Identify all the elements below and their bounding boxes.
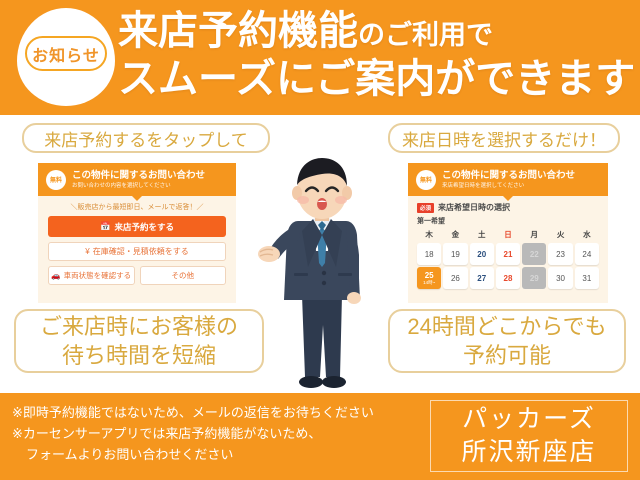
calendar-day-cell[interactable]: 21 [496, 243, 520, 265]
calendar-day-number: 24 [582, 250, 591, 259]
yen-icon: ¥ [85, 247, 89, 256]
calendar-weekday: 火 [548, 229, 572, 240]
calendar-day-cell[interactable]: 28 [496, 267, 520, 289]
headline-main-text: 来店予約機能 [118, 9, 358, 53]
other-button[interactable]: その他 [140, 266, 227, 285]
calendar-day-cell[interactable]: 20 [470, 243, 494, 265]
store-name-box: パッカーズ 所沢新座店 [430, 400, 628, 472]
calendar-icon: 📅 [100, 221, 111, 232]
car-icon: 🚗 [51, 271, 60, 280]
calendar-weekday: 木 [417, 229, 441, 240]
required-badge: 必須 [417, 203, 434, 213]
callout-step-2: 来店日時を選択するだけ！ [388, 123, 620, 153]
calendar-day-cell: 22 [522, 243, 546, 265]
stock-quote-button-label: 在庫確認・見積依頼をする [93, 246, 189, 257]
stock-quote-button[interactable]: ¥ 在庫確認・見積依頼をする [48, 242, 226, 261]
calendar-day-number: 18 [425, 250, 434, 259]
calendar-weekday: 金 [443, 229, 467, 240]
benefit-box-wait-time: ご来店時にお客様の 待ち時間を短縮 [14, 309, 264, 373]
callout-step-1: 来店予約するをタップして [22, 123, 270, 153]
mockup-header-subtitle-left: お問い合わせの内容を選択してください [72, 182, 205, 190]
footer-band: ※即時予約機能ではないため、メールの返信をお待ちください ※カーセンサーアプリで… [0, 393, 640, 480]
calendar-day-time: 14時~ [423, 280, 435, 286]
headline-tail-text: のご利用で [358, 20, 493, 50]
mockup-header-title-left: この物件に関するお問い合わせ [72, 170, 205, 182]
benefit-box-24h: 24時間どこからでも 予約可能 [388, 309, 626, 373]
benefit-24h-line-2: 予約可能 [463, 341, 551, 370]
calendar-day-cell[interactable]: 18 [417, 243, 441, 265]
vehicle-condition-button-label: 車両状態を確認する [64, 270, 132, 281]
calendar-day-cell: 29 [522, 267, 546, 289]
preference-label: 第一希望 [417, 216, 599, 226]
disclaimer-text: ※即時予約機能ではないため、メールの返信をお待ちください ※カーセンサーアプリで… [12, 402, 432, 465]
calendar-body: 必須 来店希望日時の選択 第一希望 木金土日月火水 18192021222324… [408, 196, 608, 289]
calendar-day-number: 20 [477, 250, 486, 259]
calendar-day-number: 19 [451, 250, 460, 259]
promo-banner: お知らせ 来店予約機能のご利用で スムーズにご案内ができます 来店予約するをタッ… [0, 0, 640, 480]
store-name-line-2: 所沢新座店 [461, 436, 596, 469]
mockup-calendar-form: 無料 この物件に関するお問い合わせ 来店希望日時を選択してください 必須 来店希… [408, 163, 608, 303]
reserve-visit-button-label: 来店予約をする [115, 221, 175, 233]
reserve-visit-button[interactable]: 📅 来店予約をする [48, 216, 226, 237]
calendar-day-cell[interactable]: 23 [548, 243, 572, 265]
free-badge-icon: 無料 [46, 170, 66, 190]
calendar-day-cell[interactable]: 27 [470, 267, 494, 289]
calendar-day-number: 22 [530, 250, 539, 259]
mockup-inquiry-form: 無料 この物件に関するお問い合わせ お問い合わせの内容を選択してください ＼販売… [38, 163, 236, 303]
headline-line-2: スムーズにご案内ができます [118, 56, 635, 102]
calendar-day-cell[interactable]: 2514時~ [417, 267, 441, 289]
benefit-wait-line-2: 待ち時間を短縮 [62, 341, 216, 370]
businessman-svg [258, 155, 386, 393]
mockup-header-text-right: この物件に関するお問い合わせ 来店希望日時を選択してください [442, 170, 575, 190]
calendar-day-cell[interactable]: 26 [443, 267, 467, 289]
mockup-header-subtitle-right: 来店希望日時を選択してください [442, 182, 575, 190]
free-badge-icon: 無料 [416, 170, 436, 190]
calendar-day-cell[interactable]: 19 [443, 243, 467, 265]
calendar-day-cell[interactable]: 24 [575, 243, 599, 265]
calendar-day-grid: 181920212223242514時~262728293031 [417, 243, 599, 289]
benefit-wait-line-1: ご来店時にお客様の [40, 312, 238, 341]
calendar-day-number: 21 [504, 250, 513, 259]
calendar-day-number: 27 [477, 274, 486, 283]
calendar-day-cell[interactable]: 30 [548, 267, 572, 289]
store-name-line-1: パッカーズ [462, 403, 596, 436]
disclaimer-line-1: ※即時予約機能ではないため、メールの返信をお待ちください [12, 405, 374, 420]
middle-section: 来店予約するをタップして 来店日時を選択するだけ！ 無料 この物件に関するお問い… [0, 115, 640, 393]
mockup-header-right: 無料 この物件に関するお問い合わせ 来店希望日時を選択してください [408, 163, 608, 196]
calendar-section-label: 来店希望日時の選択 [438, 202, 510, 213]
calendar-weekday: 月 [522, 229, 546, 240]
calendar-weekday: 日 [496, 229, 520, 240]
vehicle-condition-button[interactable]: 🚗 車両状態を確認する [48, 266, 135, 285]
header-band: お知らせ 来店予約機能のご利用で スムーズにご案内ができます [0, 0, 640, 115]
calendar-day-number: 25 [425, 271, 434, 280]
calendar-weekday-row: 木金土日月火水 [417, 229, 599, 240]
calendar-day-cell[interactable]: 31 [575, 267, 599, 289]
calendar-section-header: 必須 来店希望日時の選択 [417, 202, 599, 213]
mockup-header-title-right: この物件に関するお問い合わせ [442, 170, 575, 182]
headline-line-1: 来店予約機能のご利用で [118, 8, 493, 58]
calendar-day-number: 29 [530, 274, 539, 283]
mockup-header-text-left: この物件に関するお問い合わせ お問い合わせの内容を選択してください [72, 170, 205, 190]
calendar-day-number: 30 [556, 274, 565, 283]
businessman-illustration [258, 155, 386, 393]
mockup-header-left: 無料 この物件に関するお問い合わせ お問い合わせの内容を選択してください [38, 163, 236, 196]
secondary-button-row: 🚗 車両状態を確認する その他 [48, 266, 226, 285]
calendar-day-number: 31 [582, 274, 591, 283]
calendar-day-number: 28 [504, 274, 513, 283]
benefit-24h-line-1: 24時間どこからでも [407, 312, 606, 341]
notice-badge-label: お知らせ [25, 36, 107, 71]
calendar-day-number: 26 [451, 274, 460, 283]
disclaimer-line-2: ※カーセンサーアプリでは来店予約機能がないため、 [12, 426, 321, 441]
calendar-weekday: 土 [470, 229, 494, 240]
other-button-label: その他 [172, 270, 195, 281]
disclaimer-line-3: フォームよりお問い合わせください [12, 444, 432, 465]
calendar-weekday: 水 [575, 229, 599, 240]
calendar-day-number: 23 [556, 250, 565, 259]
